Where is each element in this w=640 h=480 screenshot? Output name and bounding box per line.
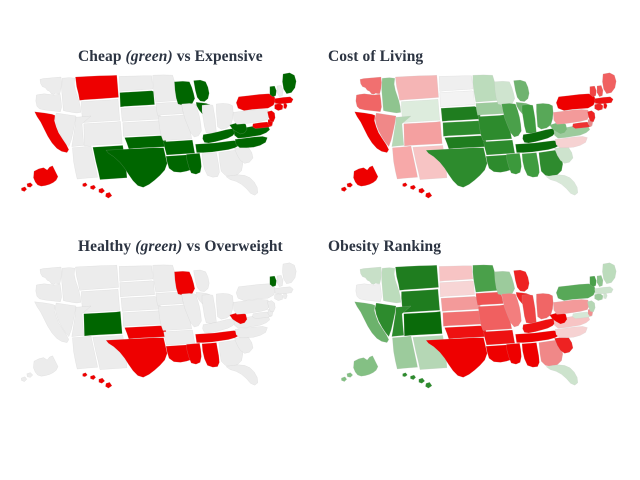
state-nh[interactable] <box>597 85 603 96</box>
title-pre: Cost of Living <box>328 48 423 65</box>
state-ct[interactable] <box>595 293 603 300</box>
state-ny[interactable] <box>236 284 276 301</box>
state-nh[interactable] <box>277 275 283 286</box>
map-cost-of-living <box>320 68 640 218</box>
panel-cheap-vs-expensive: Cheap (green) vs Expensive <box>0 36 320 226</box>
panel-obesity-ranking: Obesity Ranking <box>320 226 640 416</box>
state-ma[interactable] <box>275 97 294 104</box>
state-in[interactable] <box>522 105 536 134</box>
state-wi[interactable] <box>174 271 194 296</box>
state-ar[interactable] <box>484 330 515 345</box>
state-mt[interactable] <box>75 75 118 100</box>
state-al[interactable] <box>202 343 219 368</box>
state-nd[interactable] <box>439 76 473 92</box>
state-ne[interactable] <box>121 296 161 311</box>
state-or[interactable] <box>36 94 62 112</box>
map-obesity-ranking <box>320 258 640 408</box>
state-ny[interactable] <box>236 94 276 111</box>
state-wi[interactable] <box>494 271 514 296</box>
state-ms[interactable] <box>506 343 521 364</box>
state-ct[interactable] <box>275 293 283 300</box>
state-wa[interactable] <box>40 267 62 284</box>
state-ar[interactable] <box>484 140 515 155</box>
state-sd[interactable] <box>120 281 155 297</box>
state-hi[interactable] <box>403 183 432 199</box>
state-fl[interactable] <box>546 175 578 195</box>
state-ak[interactable] <box>21 356 58 382</box>
state-ct[interactable] <box>595 103 603 110</box>
state-ne[interactable] <box>441 296 481 311</box>
state-ri[interactable] <box>604 103 608 109</box>
state-co[interactable] <box>404 121 442 146</box>
state-ok[interactable] <box>125 136 168 149</box>
state-pa[interactable] <box>233 299 269 314</box>
state-in[interactable] <box>202 295 216 324</box>
state-ma[interactable] <box>595 287 614 294</box>
state-me[interactable] <box>282 263 296 284</box>
title-emphasis: (green) <box>135 238 182 255</box>
title-pre: Obesity Ranking <box>328 238 441 255</box>
state-sd[interactable] <box>120 91 155 107</box>
state-ks[interactable] <box>443 121 483 137</box>
state-ms[interactable] <box>186 153 201 174</box>
title-pre: Cheap <box>78 48 126 65</box>
title-emphasis: (green) <box>126 48 173 65</box>
state-nh[interactable] <box>597 275 603 286</box>
maps-grid: Cheap (green) vs Expensive Cost of Livin… <box>0 0 640 480</box>
state-fl[interactable] <box>546 365 578 385</box>
state-ak[interactable] <box>341 356 378 382</box>
state-fl[interactable] <box>226 365 258 385</box>
state-ny[interactable] <box>556 284 596 301</box>
state-co[interactable] <box>404 311 442 336</box>
state-fl[interactable] <box>226 175 258 195</box>
state-or[interactable] <box>36 284 62 302</box>
state-hi[interactable] <box>83 373 112 389</box>
state-al[interactable] <box>202 153 219 178</box>
panel-cost-of-living: Cost of Living <box>320 36 640 226</box>
state-ct[interactable] <box>275 103 283 110</box>
map-healthy-vs-overweight <box>0 258 320 408</box>
state-or[interactable] <box>356 94 382 112</box>
us-map-svg <box>0 258 320 408</box>
state-ma[interactable] <box>595 97 614 104</box>
state-vt[interactable] <box>590 86 597 97</box>
state-nd[interactable] <box>119 76 153 92</box>
state-ak[interactable] <box>341 166 378 192</box>
us-map-svg <box>0 68 320 218</box>
state-in[interactable] <box>522 295 536 324</box>
state-ks[interactable] <box>443 311 483 327</box>
state-ks[interactable] <box>123 311 163 327</box>
title-pre: Healthy <box>78 238 135 255</box>
state-ks[interactable] <box>123 121 163 137</box>
state-sd[interactable] <box>440 91 475 107</box>
us-map-svg <box>320 258 640 408</box>
state-ar[interactable] <box>164 330 195 345</box>
state-ny[interactable] <box>556 94 596 111</box>
state-in[interactable] <box>202 105 216 134</box>
state-ne[interactable] <box>441 106 481 121</box>
state-ri[interactable] <box>284 103 288 109</box>
us-map-svg <box>320 68 640 218</box>
state-sd[interactable] <box>440 281 475 297</box>
state-vt[interactable] <box>590 276 597 287</box>
state-wa[interactable] <box>360 77 382 94</box>
state-mt[interactable] <box>395 75 438 100</box>
title-post: vs Overweight <box>182 238 282 255</box>
state-ok[interactable] <box>445 136 488 149</box>
state-co[interactable] <box>84 121 122 146</box>
panel-healthy-vs-overweight: Healthy (green) vs Overweight <box>0 226 320 416</box>
state-ak[interactable] <box>21 166 58 192</box>
state-vt[interactable] <box>270 86 277 97</box>
title-post: vs Expensive <box>173 48 263 65</box>
state-ms[interactable] <box>506 153 521 174</box>
map-cheap-vs-expensive <box>0 68 320 218</box>
state-mt[interactable] <box>75 265 118 290</box>
state-me[interactable] <box>602 263 616 284</box>
state-ri[interactable] <box>284 293 288 299</box>
state-ok[interactable] <box>125 326 168 339</box>
state-me[interactable] <box>602 73 616 94</box>
state-wa[interactable] <box>40 77 62 94</box>
state-nd[interactable] <box>439 266 473 282</box>
state-ri[interactable] <box>604 293 608 299</box>
state-pa[interactable] <box>553 299 589 314</box>
state-mt[interactable] <box>395 265 438 290</box>
state-nh[interactable] <box>277 85 283 96</box>
state-hi[interactable] <box>403 373 432 389</box>
state-hi[interactable] <box>83 183 112 199</box>
state-ar[interactable] <box>164 140 195 155</box>
state-wi[interactable] <box>494 81 514 106</box>
state-or[interactable] <box>356 284 382 302</box>
state-pa[interactable] <box>233 109 269 124</box>
state-al[interactable] <box>522 153 539 178</box>
state-co[interactable] <box>84 311 122 336</box>
panel-title-obesity-ranking: Obesity Ranking <box>320 238 640 256</box>
state-wa[interactable] <box>360 267 382 284</box>
state-ms[interactable] <box>186 343 201 364</box>
state-ok[interactable] <box>445 326 488 339</box>
state-me[interactable] <box>282 73 296 94</box>
panel-title-cost-of-living: Cost of Living <box>320 48 640 66</box>
state-pa[interactable] <box>553 109 589 124</box>
state-nd[interactable] <box>119 266 153 282</box>
state-wi[interactable] <box>174 81 194 106</box>
state-ne[interactable] <box>121 106 161 121</box>
state-ma[interactable] <box>275 287 294 294</box>
state-vt[interactable] <box>270 276 277 287</box>
state-al[interactable] <box>522 343 539 368</box>
